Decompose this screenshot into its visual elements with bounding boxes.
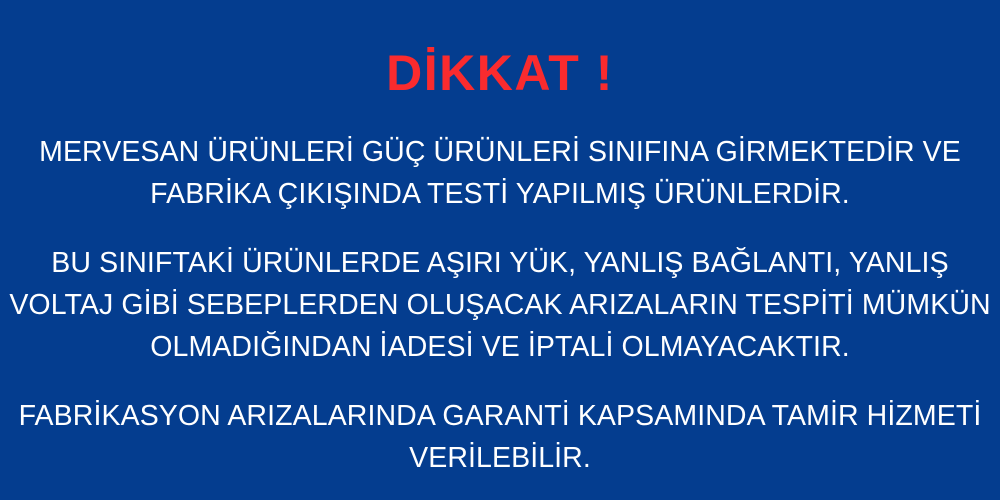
paragraph-spacer <box>6 215 994 242</box>
notice-paragraph-3: FABRİKASYON ARIZALARINDA GARANTİ KAPSAMI… <box>6 395 994 479</box>
warning-notice-card: DİKKAT ! MERVESAN ÜRÜNLERİ GÜÇ ÜRÜNLERİ … <box>0 0 1000 500</box>
notice-body: MERVESAN ÜRÜNLERİ GÜÇ ÜRÜNLERİ SINIFINA … <box>0 131 1000 479</box>
notice-paragraph-2: BU SINIFTAKİ ÜRÜNLERDE AŞIRI YÜK, YANLIŞ… <box>6 242 994 368</box>
notice-title: DİKKAT ! <box>0 48 1000 98</box>
paragraph-spacer <box>6 368 994 395</box>
notice-paragraph-1: MERVESAN ÜRÜNLERİ GÜÇ ÜRÜNLERİ SINIFINA … <box>6 131 994 215</box>
